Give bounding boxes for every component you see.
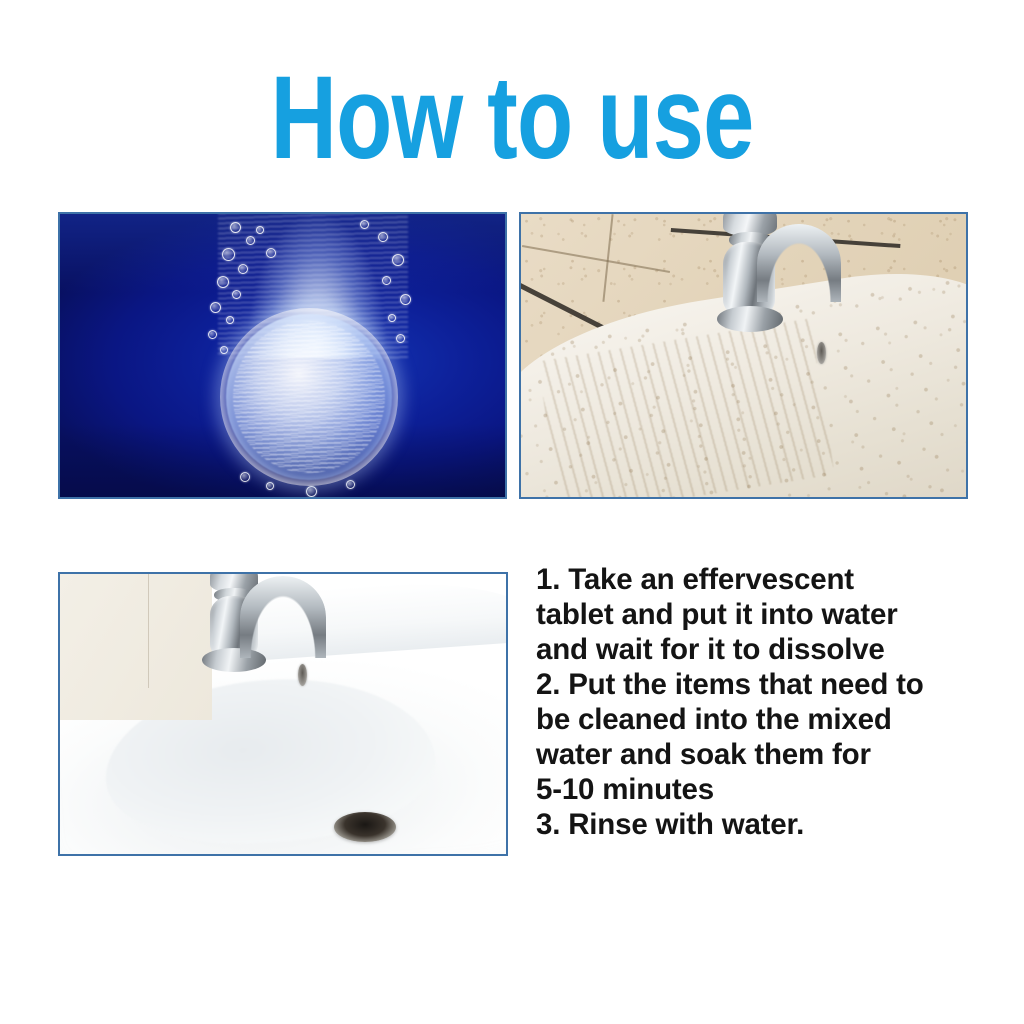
faucet-spout bbox=[240, 576, 326, 658]
bubble-icon bbox=[220, 346, 228, 354]
chrome-faucet bbox=[711, 214, 861, 346]
bubble-icon bbox=[210, 302, 221, 313]
instruction-line: 1. Take an effervescent bbox=[536, 562, 1006, 597]
clean-sink-photo bbox=[60, 574, 506, 854]
bubble-icon bbox=[240, 472, 250, 482]
bubble-icon bbox=[388, 314, 396, 322]
bubble-icon bbox=[230, 222, 241, 233]
drain bbox=[334, 812, 396, 842]
bubble-icon bbox=[396, 334, 405, 343]
effervescent-tablet bbox=[226, 314, 392, 480]
image-panel-effervescent-tablet bbox=[58, 212, 507, 499]
bubble-icon bbox=[266, 482, 274, 490]
bubble-icon bbox=[360, 220, 369, 229]
instruction-line: 2. Put the items that need to bbox=[536, 667, 1006, 702]
chrome-faucet bbox=[190, 574, 350, 694]
bubble-icon bbox=[382, 276, 391, 285]
instruction-line: tablet and put it into water bbox=[536, 597, 1006, 632]
faucet-base bbox=[717, 306, 783, 332]
image-panel-dirty-sink bbox=[519, 212, 968, 499]
bubble-icon bbox=[222, 248, 235, 261]
bubble-icon bbox=[346, 480, 355, 489]
tablet-photo bbox=[60, 214, 505, 497]
page-title: How to use bbox=[113, 62, 912, 174]
wall-behind-sink bbox=[60, 574, 212, 720]
instruction-line: be cleaned into the mixed bbox=[536, 702, 1006, 737]
bubble-icon bbox=[238, 264, 248, 274]
bubble-icon bbox=[217, 276, 229, 288]
bubble-icon bbox=[256, 226, 264, 234]
bubble-icon bbox=[306, 486, 317, 497]
bubble-icon bbox=[232, 290, 241, 299]
instructions-block: 1. Take an effervescent tablet and put i… bbox=[536, 562, 1006, 842]
faucet-spout bbox=[757, 224, 841, 302]
bubble-icon bbox=[378, 232, 388, 242]
bubble-icon bbox=[246, 236, 255, 245]
bubble-icon bbox=[226, 316, 234, 324]
instruction-line: 3. Rinse with water. bbox=[536, 807, 1006, 842]
bubble-icon bbox=[392, 254, 404, 266]
instruction-line: 5-10 minutes bbox=[536, 772, 1006, 807]
image-panel-clean-sink bbox=[58, 572, 508, 856]
dirty-sink-photo bbox=[521, 214, 966, 497]
bubble-icon bbox=[208, 330, 217, 339]
instruction-line: and wait for it to dissolve bbox=[536, 632, 1006, 667]
instruction-line: water and soak them for bbox=[536, 737, 1006, 772]
bubble-icon bbox=[400, 294, 411, 305]
bubble-icon bbox=[266, 248, 276, 258]
